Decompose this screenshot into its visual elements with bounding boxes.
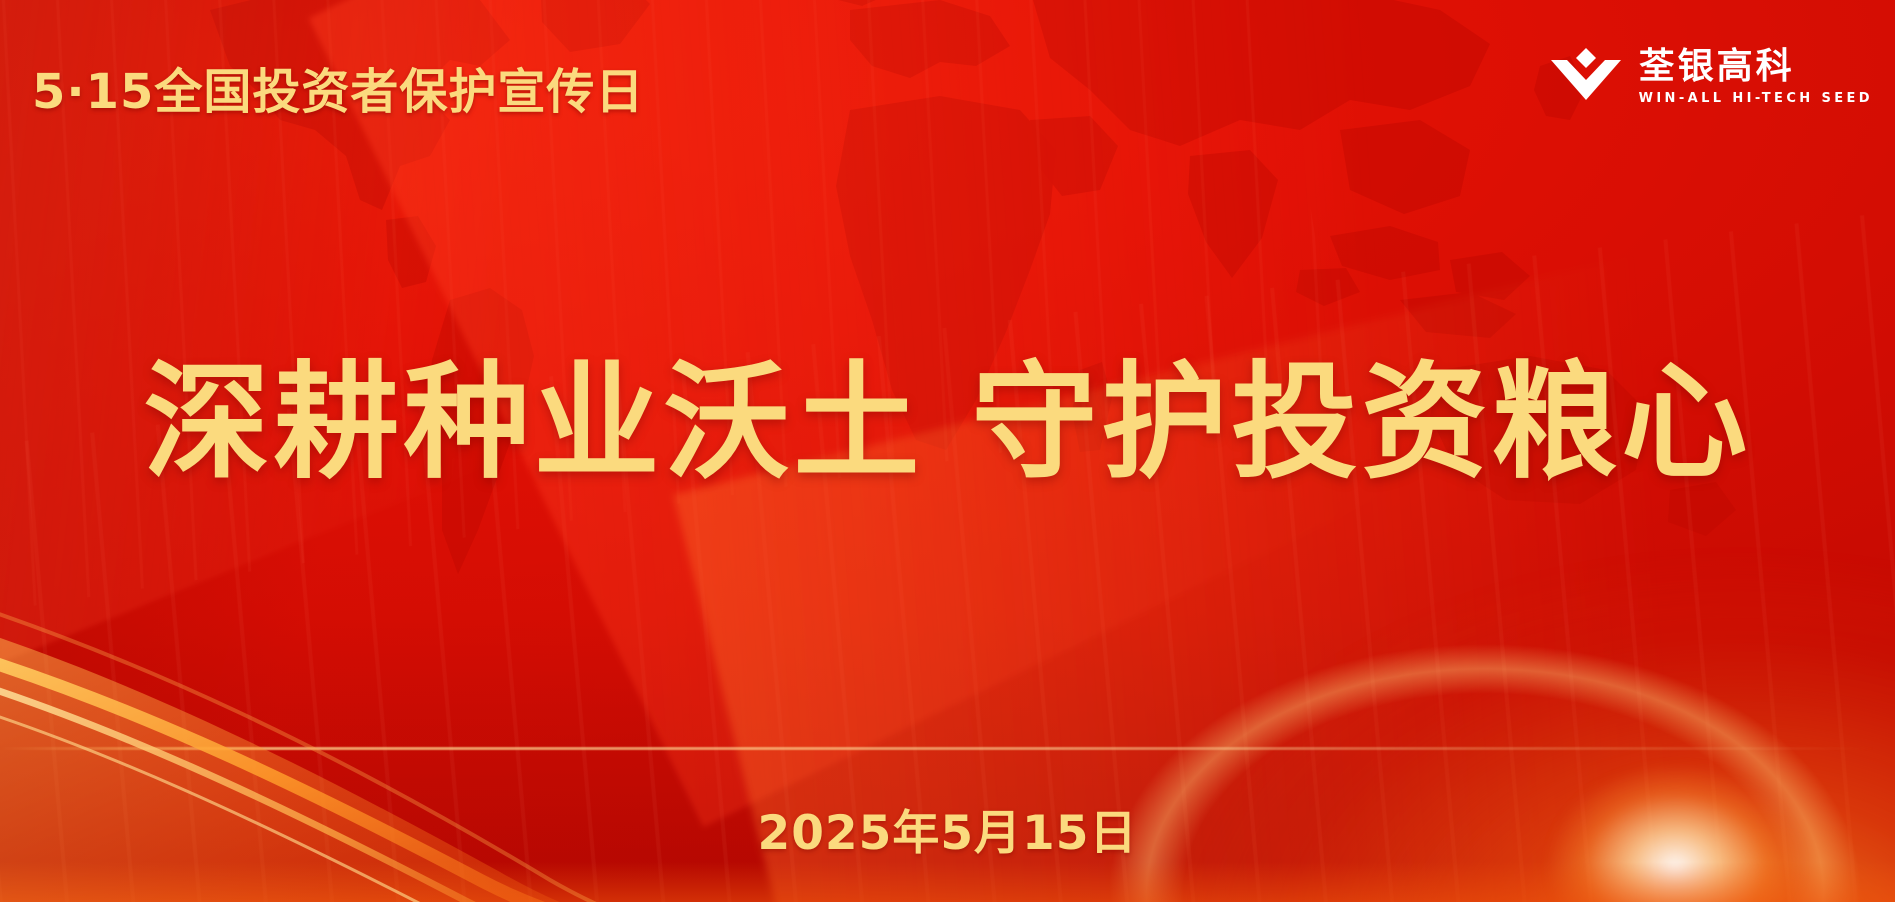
win-all-chevron-logo-icon: [1549, 46, 1623, 108]
company-name-cn: 荃银高科: [1639, 48, 1873, 86]
banner-headline: 深耕种业沃土 守护投资粮心: [0, 352, 1895, 493]
campaign-eyebrow-text: 5·15全国投资者保护宣传日: [32, 52, 644, 122]
company-name-en: WIN-ALL HI-TECH SEED: [1639, 91, 1873, 106]
company-logo: 荃银高科 WIN-ALL HI-TECH SEED: [1549, 46, 1873, 108]
company-logo-text: 荃银高科 WIN-ALL HI-TECH SEED: [1639, 48, 1873, 106]
banner-content: 5·15全国投资者保护宣传日 荃银高科 WIN-ALL HI-TECH SEED…: [0, 0, 1895, 902]
investor-protection-banner: 5·15全国投资者保护宣传日 荃银高科 WIN-ALL HI-TECH SEED…: [0, 0, 1895, 902]
banner-date: 2025年5月15日: [0, 794, 1895, 863]
